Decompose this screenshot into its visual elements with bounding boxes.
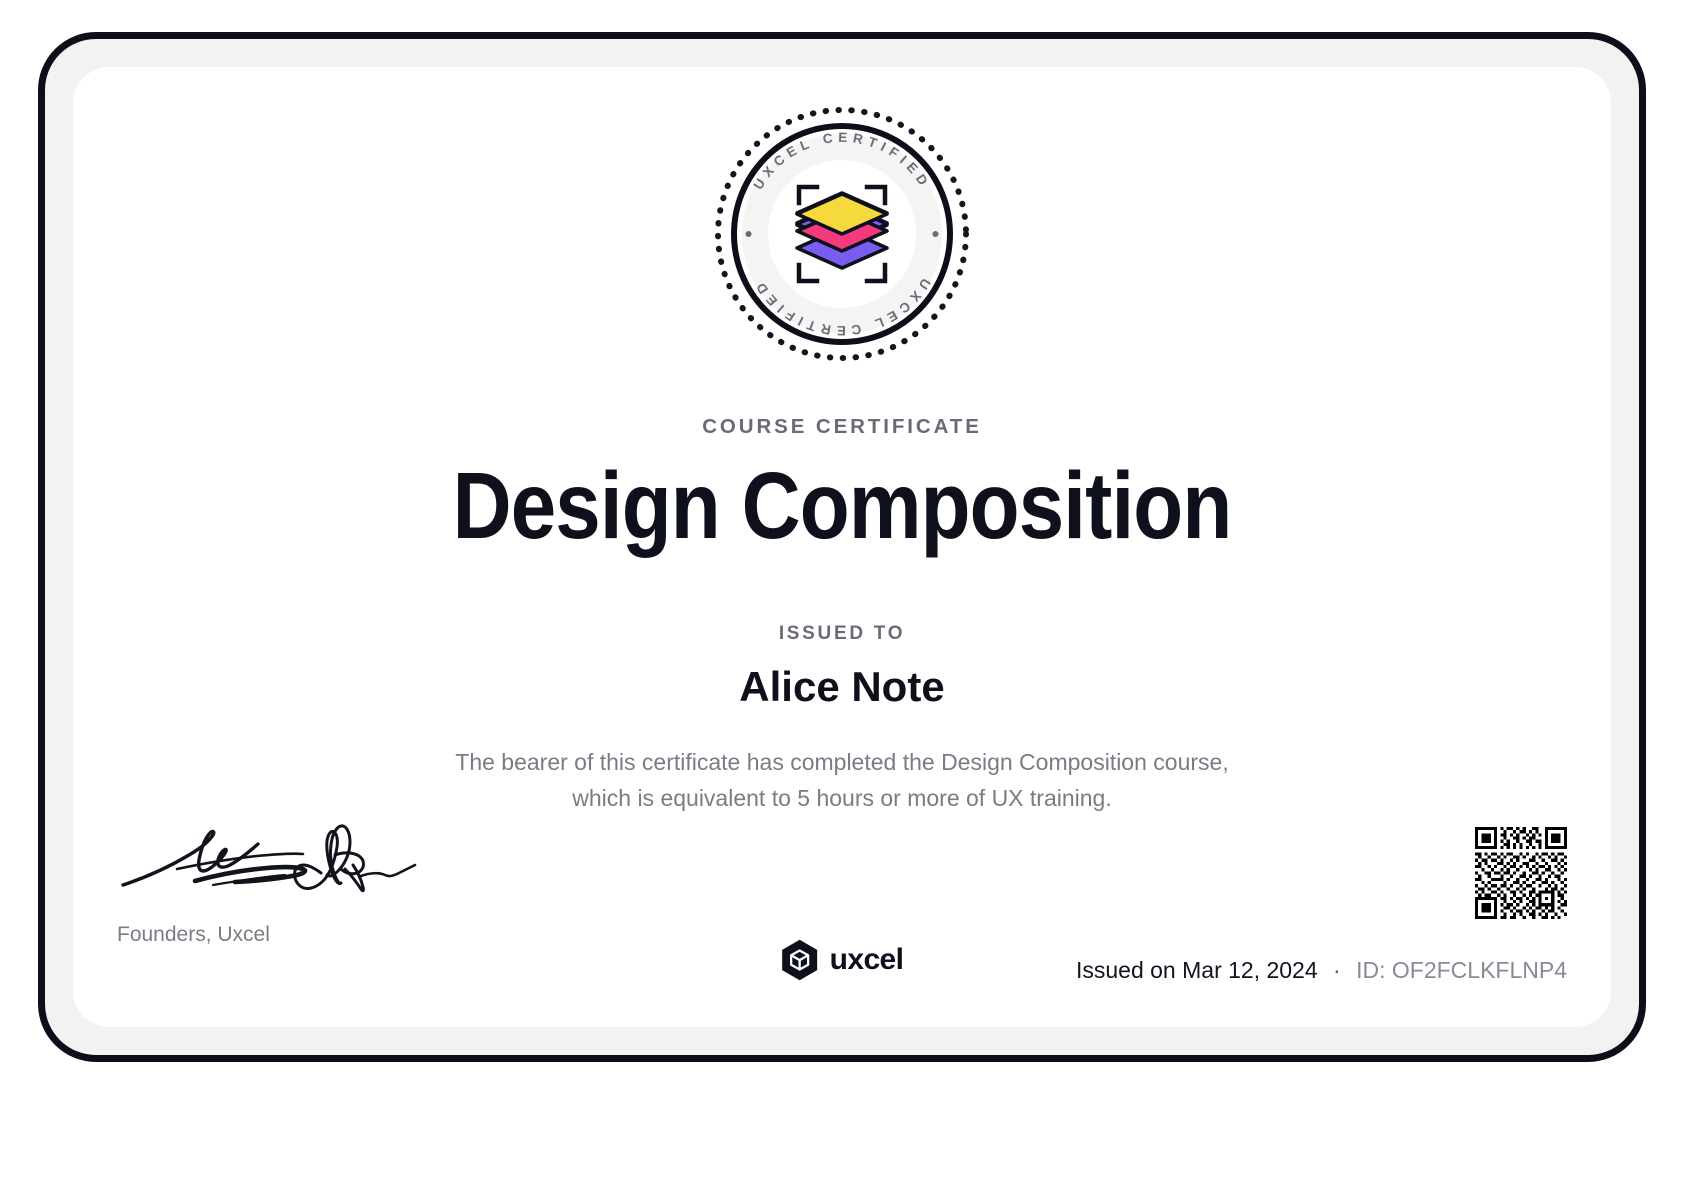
issued-on-date: Issued on Mar 12, 2024 (1076, 957, 1318, 983)
course-certificate-eyebrow: COURSE CERTIFICATE (73, 415, 1611, 439)
certificate-description: The bearer of this certificate has compl… (73, 745, 1611, 816)
uxcel-cube-logo (781, 939, 819, 981)
certificate-id: ID: OF2FCLKFLNP4 (1356, 957, 1567, 983)
certificate-card: UXCEL CERTIFIED UXCEL CERTIFIED (73, 67, 1611, 1027)
founders-signature-image (117, 819, 417, 897)
description-line-1: The bearer of this certificate has compl… (73, 745, 1611, 781)
issue-meta: Issued on Mar 12, 2024 · ID: OF2FCLKFLNP… (1076, 957, 1567, 984)
uxcel-brand-logo: uxcel (781, 939, 904, 981)
certificate-qr-code[interactable] (1475, 827, 1567, 919)
page-title: Design Composition (181, 459, 1504, 554)
badge-ring-dot-left (746, 231, 752, 237)
recipient-name: Alice Note (73, 663, 1611, 711)
signatures-block: Founders, Uxcel (117, 819, 447, 947)
uxcel-certified-badge: UXCEL CERTIFIED UXCEL CERTIFIED (707, 99, 977, 369)
certificate-frame: UXCEL CERTIFIED UXCEL CERTIFIED (38, 32, 1646, 1062)
description-line-2: which is equivalent to 5 hours or more o… (73, 781, 1611, 817)
issued-to-label: ISSUED TO (73, 623, 1611, 645)
founders-label: Founders, Uxcel (117, 923, 447, 947)
badge-ring-dot-right (933, 231, 939, 237)
meta-separator: · (1324, 957, 1350, 983)
uxcel-wordmark: uxcel (830, 943, 904, 977)
